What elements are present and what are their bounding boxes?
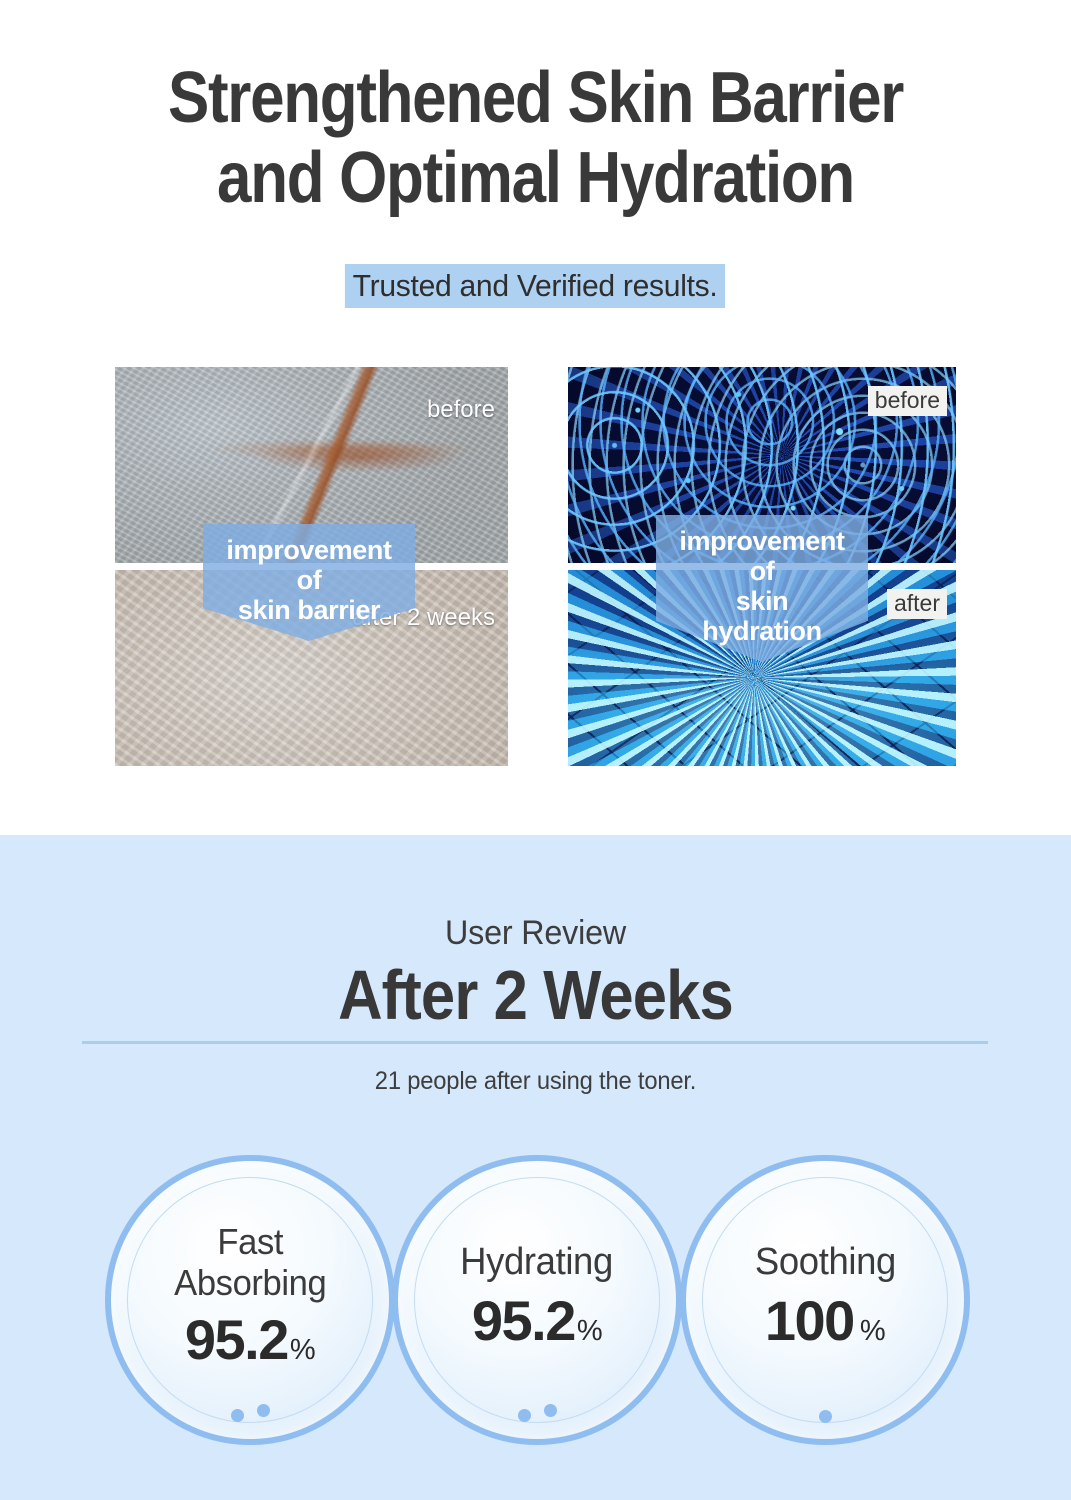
stat-circle-hydrating: Hydrating 95.2 % [392,1155,682,1445]
stat-value-wrapper: 95.2 % [185,1311,315,1379]
banner-skin-barrier-line-2: skin barrier [221,595,397,625]
label-after-right: after [887,589,947,619]
skin-hydration-comparison-panel: before after improvement of skin hydrati… [568,367,956,766]
review-divider [82,1041,988,1044]
banner-skin-barrier-line-1: improvement of [221,535,397,595]
banner-skin-hydration-line-2: skin hydration [674,586,850,646]
stat-circle-soothing: Soothing 100 % [680,1155,970,1445]
stat-value: 95.2 [472,1292,575,1350]
stat-unit: % [577,1302,602,1360]
review-title: After 2 Weeks [64,953,1006,1037]
page-title-line-2: and Optimal Hydration [75,138,996,218]
stat-circle-fast-absorbing: Fast Absorbing 95.2 % [105,1155,395,1445]
stat-label-line-1: Fast [174,1221,326,1262]
stat-label: Hydrating [461,1241,614,1284]
page-title-line-1: Strengthened Skin Barrier [75,58,996,138]
stat-value: 100 [765,1292,854,1350]
review-eyebrow: User Review [27,913,1044,953]
stat-label: Soothing [755,1241,896,1284]
stat-value-wrapper: 100 % [765,1292,885,1360]
stat-label: Fast Absorbing [174,1221,326,1303]
stat-circle-group: Fast Absorbing 95.2 % Hydrating 95.2 [0,1155,1071,1445]
stat-label-line-1: Hydrating [461,1241,614,1284]
label-before-left: before [427,397,495,423]
stat-label-line-2: Absorbing [174,1262,326,1303]
stat-unit: % [290,1321,315,1379]
label-before-right: before [868,386,947,416]
user-review-section: User Review After 2 Weeks 21 people afte… [0,835,1071,1500]
stat-label-line-1: Soothing [755,1241,896,1284]
stat-unit: % [860,1302,885,1360]
skin-barrier-comparison-panel: before after 2 weeks improvement of skin… [115,367,508,766]
stat-content: Fast Absorbing 95.2 % [105,1155,395,1445]
subheadline: Trusted and Verified results. [345,264,725,308]
subheadline-wrapper: Trusted and Verified results. [0,264,1071,308]
review-sample-size: 21 people after using the toner. [27,1061,1044,1101]
hero-section: Strengthened Skin Barrier and Optimal Hy… [0,0,1071,835]
stat-value-wrapper: 95.2 % [472,1292,602,1360]
banner-skin-hydration-line-1: improvement of [674,526,850,586]
stat-content: Hydrating 95.2 % [392,1155,682,1445]
page-title: Strengthened Skin Barrier and Optimal Hy… [75,58,996,218]
stat-value: 95.2 [185,1311,288,1369]
stat-content: Soothing 100 % [680,1155,970,1445]
